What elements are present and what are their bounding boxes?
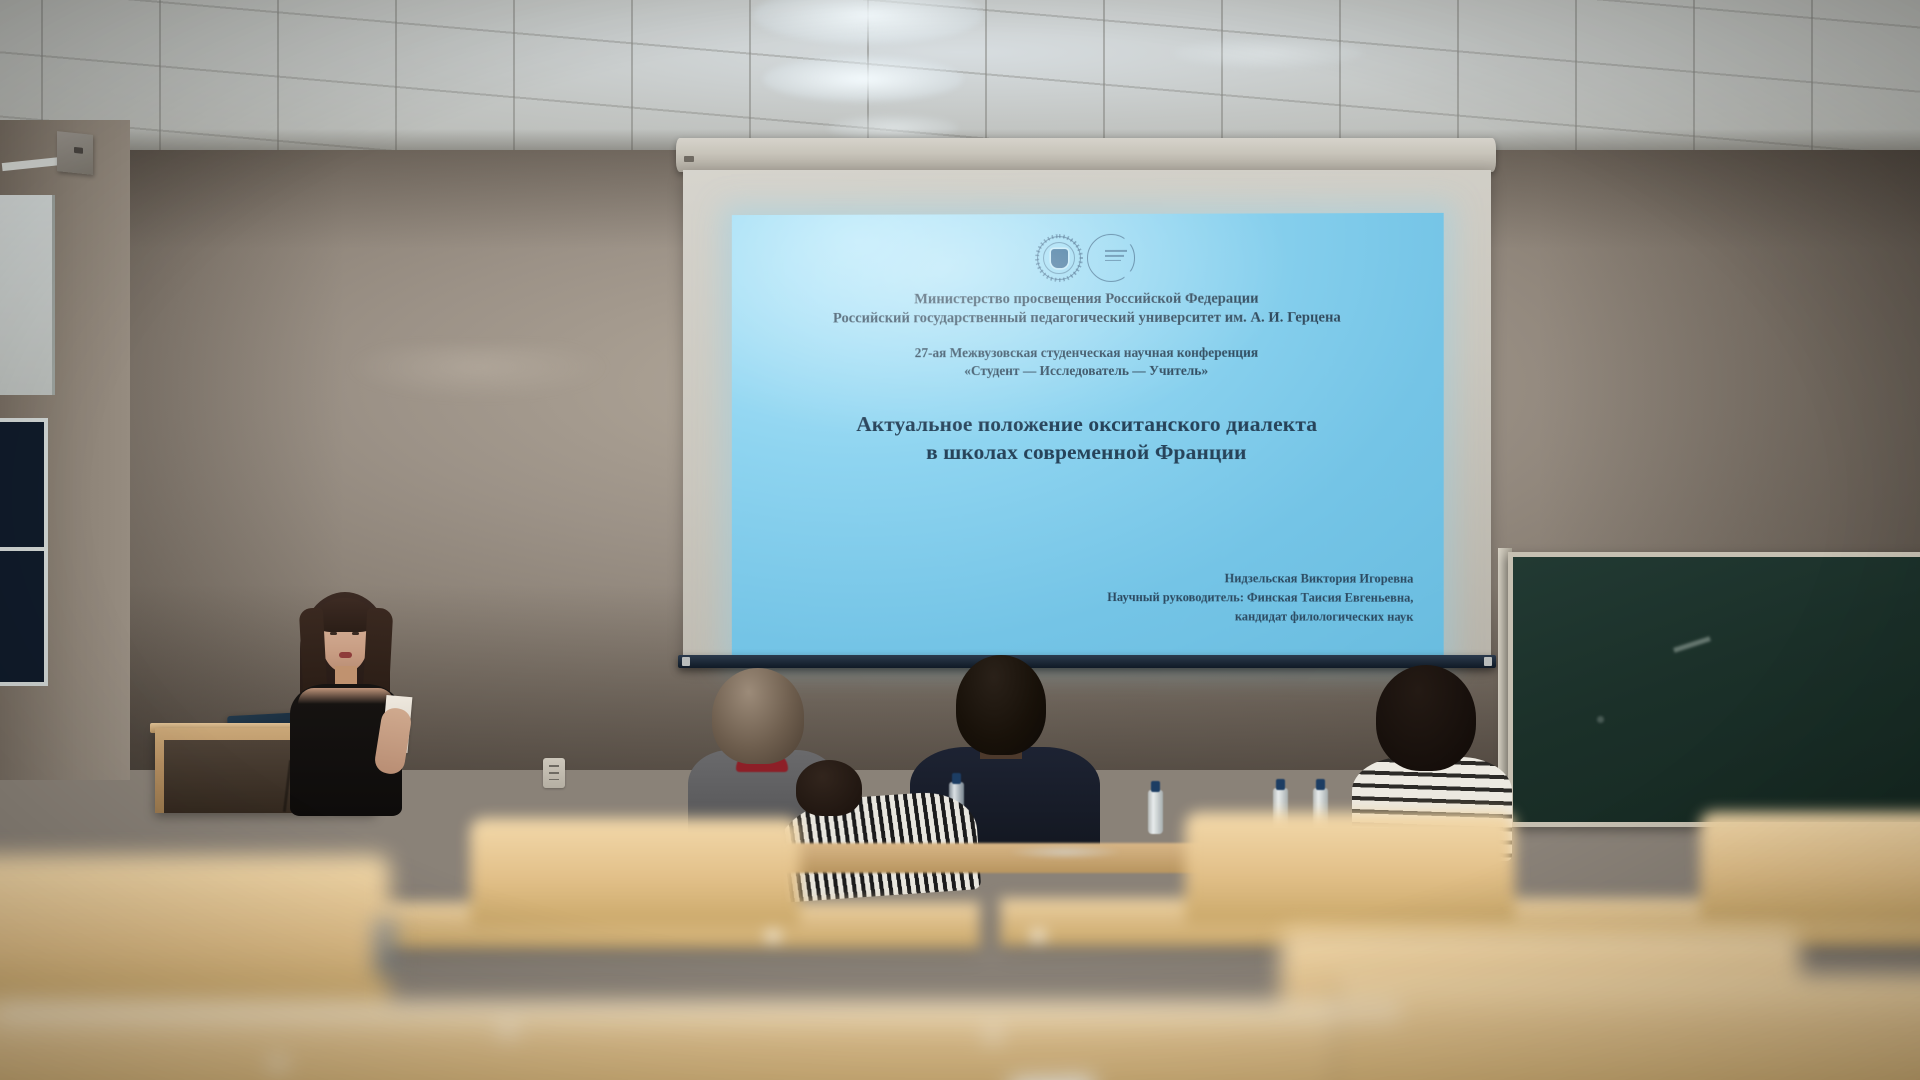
- presenter: [280, 592, 412, 822]
- desk-gloss-near: [0, 1002, 1400, 1034]
- slide-conference: 27-ая Межвузовская студенческая научная …: [760, 343, 1416, 381]
- desk-highlight-1: [765, 930, 781, 942]
- desk-highlight-2: [1030, 930, 1046, 942]
- ministry-emblem-logo-icon: [1037, 236, 1081, 280]
- wall-smudge: [345, 345, 610, 400]
- ceiling-light-2: [763, 56, 963, 102]
- presenter-eye-right: [352, 632, 359, 635]
- wall-speaker-icon: [57, 131, 93, 175]
- slide-org-line-1: Министерство просвещения Российской Феде…: [760, 289, 1416, 310]
- chair-back-m2: [1185, 812, 1515, 924]
- desk-surface-near-right: [1340, 975, 1920, 1080]
- chair-back-m1: [470, 818, 800, 926]
- herzen-university-logo-icon: [1087, 234, 1135, 282]
- slide-org-line-2: Российский государственный педагогически…: [760, 309, 1416, 329]
- desk-highlight-4: [985, 1030, 1001, 1042]
- chair-clip-n1: [375, 918, 395, 976]
- slide-author-name: Нидзельская Виктория Игоревна: [1107, 570, 1413, 589]
- projected-slide: Министерство просвещения Российской Феде…: [732, 213, 1444, 661]
- chair-back-n1: [0, 855, 390, 1015]
- slide-conference-line-2: «Студент — Исследователь — Учитель»: [760, 362, 1416, 381]
- green-chalkboard: [1508, 552, 1920, 827]
- slide-supervisor: Научный руководитель: Финская Таисия Евг…: [1107, 588, 1413, 608]
- lecture-hall-photo: Министерство просвещения Российской Феде…: [0, 0, 1920, 1080]
- wall-outlet-plate: [543, 758, 565, 788]
- chalk-smudge-2: [1597, 716, 1604, 723]
- chalk-smudge-1: [1673, 636, 1711, 652]
- slide-logo-row: [760, 231, 1416, 285]
- window-pane: [0, 418, 48, 686]
- desk-highlight-5: [270, 1058, 286, 1070]
- slide-conference-line-1: 27-ая Межвузовская студенческая научная …: [760, 343, 1416, 362]
- emblem-inner-ring: [1043, 242, 1075, 274]
- audience-3-head: [956, 655, 1046, 755]
- ceiling-light-4: [1173, 38, 1363, 68]
- slide-title: Актуальное положение окситанского диалек…: [760, 411, 1416, 467]
- water-bottle-1: [1148, 790, 1163, 834]
- presenter-eye-left: [330, 632, 337, 635]
- window-frame: [0, 195, 55, 395]
- presenter-shoulders: [298, 688, 394, 704]
- slide-title-line-2: в школах современной Франции: [760, 439, 1416, 467]
- audience-2-head: [796, 760, 862, 816]
- desk-highlight-3: [500, 1025, 516, 1037]
- table-items: [1010, 845, 1120, 859]
- logo-arc-text-lines: [1105, 250, 1127, 264]
- slide-organization: Министерство просвещения Российской Феде…: [760, 289, 1416, 329]
- chair-back-m3: [1700, 812, 1920, 922]
- slide-title-line-1: Актуальное положение окситанского диалек…: [760, 411, 1416, 439]
- audience-4-head: [1376, 665, 1476, 771]
- projection-screen-housing: [676, 138, 1496, 172]
- presenter-lips: [339, 652, 352, 658]
- slide-supervisor-degree: кандидат филологических наук: [1107, 607, 1413, 627]
- audience-1-head: [712, 668, 804, 764]
- slide-author-block: Нидзельская Виктория Игоревна Научный ру…: [1107, 570, 1413, 627]
